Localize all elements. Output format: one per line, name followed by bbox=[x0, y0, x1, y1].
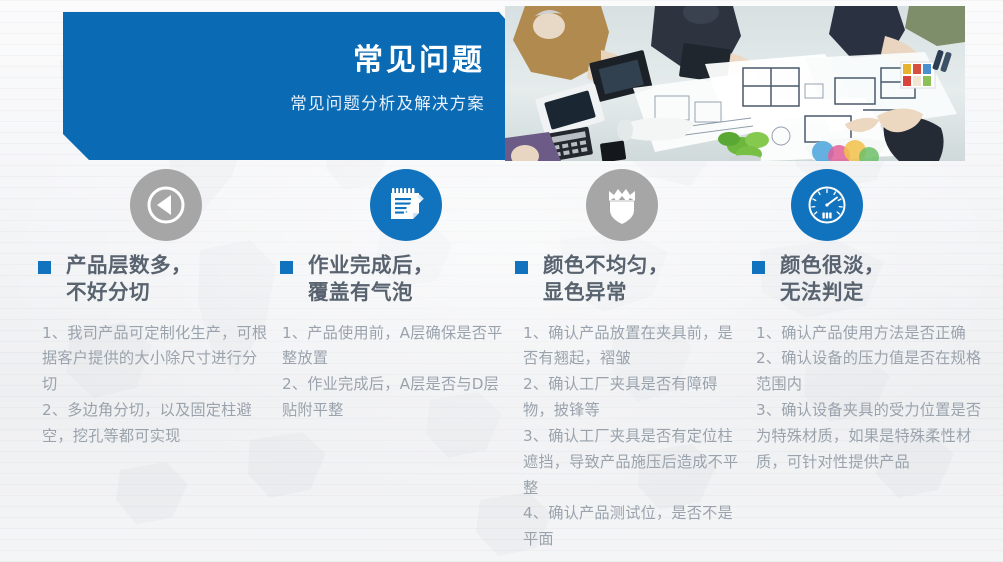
gauge-icon[interactable] bbox=[791, 169, 863, 241]
bullet-square-icon bbox=[280, 261, 293, 274]
bullet-square-icon bbox=[515, 261, 528, 274]
bullet-square-icon bbox=[752, 261, 765, 274]
header-photo bbox=[505, 6, 965, 161]
column-bubbles: 作业完成后， 覆盖有气泡 1、产品使用前，A层确保是否平整放置 2、作业完成后，… bbox=[280, 252, 505, 424]
column-body: 1、确认产品放置在夹具前，是否有翘起，褶皱 2、确认工厂夹具是否有障碍物，披锋等… bbox=[523, 321, 747, 554]
column-header: 产品层数多， 不好分切 bbox=[38, 252, 270, 307]
column-body: 1、确认产品使用方法是否正确 2、确认设备的压力值是否在规格范围内 3、确认设备… bbox=[756, 321, 988, 476]
page-title: 常见问题 bbox=[353, 44, 485, 79]
list-item: 1、确认产品使用方法是否正确 bbox=[756, 321, 988, 347]
column-title: 产品层数多， 不好分切 bbox=[66, 252, 192, 307]
list-item: 2、确认工厂夹具是否有障碍物，披锋等 bbox=[523, 372, 747, 424]
list-item: 2、多边角分切，以及固定柱避空，挖孔等都可实现 bbox=[42, 398, 270, 450]
column-title: 颜色很淡， 无法判定 bbox=[780, 252, 885, 307]
column-product-layers: 产品层数多， 不好分切 1、我司产品可定制化生产，可根据客户提供的大小除尺寸进行… bbox=[38, 252, 270, 450]
list-item: 1、产品使用前，A层确保是否平整放置 bbox=[282, 321, 505, 373]
columns-container: 产品层数多， 不好分切 1、我司产品可定制化生产，可根据客户提供的大小除尺寸进行… bbox=[0, 252, 1003, 562]
title-banner: 常见问题 常见问题分析及解决方案 bbox=[63, 12, 513, 160]
column-body: 1、我司产品可定制化生产，可根据客户提供的大小除尺寸进行分切 2、多边角分切，以… bbox=[42, 321, 270, 450]
list-item: 1、我司产品可定制化生产，可根据客户提供的大小除尺寸进行分切 bbox=[42, 321, 270, 399]
column-header: 作业完成后， 覆盖有气泡 bbox=[280, 252, 505, 307]
column-body: 1、产品使用前，A层确保是否平整放置 2、作业完成后，A层是否与D层贴附平整 bbox=[282, 321, 505, 424]
column-header: 颜色很淡， 无法判定 bbox=[752, 252, 988, 307]
notepad-pencil-icon-glyph bbox=[386, 185, 426, 225]
page-subtitle: 常见问题分析及解决方案 bbox=[290, 90, 485, 114]
gauge-icon-glyph bbox=[806, 184, 848, 226]
play-left-icon[interactable] bbox=[130, 169, 202, 241]
column-faint-color: 颜色很淡， 无法判定 1、确认产品使用方法是否正确 2、确认设备的压力值是否在规… bbox=[752, 252, 988, 476]
list-item: 3、确认设备夹具的受力位置是否为特殊材质，如果是特殊柔性材质，可针对性提供产品 bbox=[756, 398, 988, 476]
crown-shield-icon[interactable] bbox=[586, 169, 658, 241]
team-meeting-blueprints-photo bbox=[505, 6, 965, 161]
column-title: 作业完成后， 覆盖有气泡 bbox=[308, 252, 434, 307]
play-left-icon-glyph bbox=[146, 185, 186, 225]
header-area: 常见问题 常见问题分析及解决方案 bbox=[0, 0, 1003, 172]
list-item: 3、确认工厂夹具是否有定位柱遮挡，导致产品施压后造成不平整 bbox=[523, 424, 747, 502]
notepad-pencil-icon[interactable] bbox=[370, 169, 442, 241]
column-header: 颜色不均匀， 显色异常 bbox=[515, 252, 747, 307]
list-item: 2、作业完成后，A层是否与D层贴附平整 bbox=[282, 372, 505, 424]
crown-shield-icon-glyph bbox=[602, 185, 642, 225]
bullet-square-icon bbox=[38, 261, 51, 274]
list-item: 1、确认产品放置在夹具前，是否有翘起，褶皱 bbox=[523, 321, 747, 373]
list-item: 4、确认产品测试位，是否不是平面 bbox=[523, 501, 747, 553]
list-item: 2、确认设备的压力值是否在规格范围内 bbox=[756, 346, 988, 398]
column-uneven-color: 颜色不均匀， 显色异常 1、确认产品放置在夹具前，是否有翘起，褶皱 2、确认工厂… bbox=[515, 252, 747, 553]
icon-row bbox=[0, 167, 1003, 247]
column-title: 颜色不均匀， 显色异常 bbox=[543, 252, 669, 307]
